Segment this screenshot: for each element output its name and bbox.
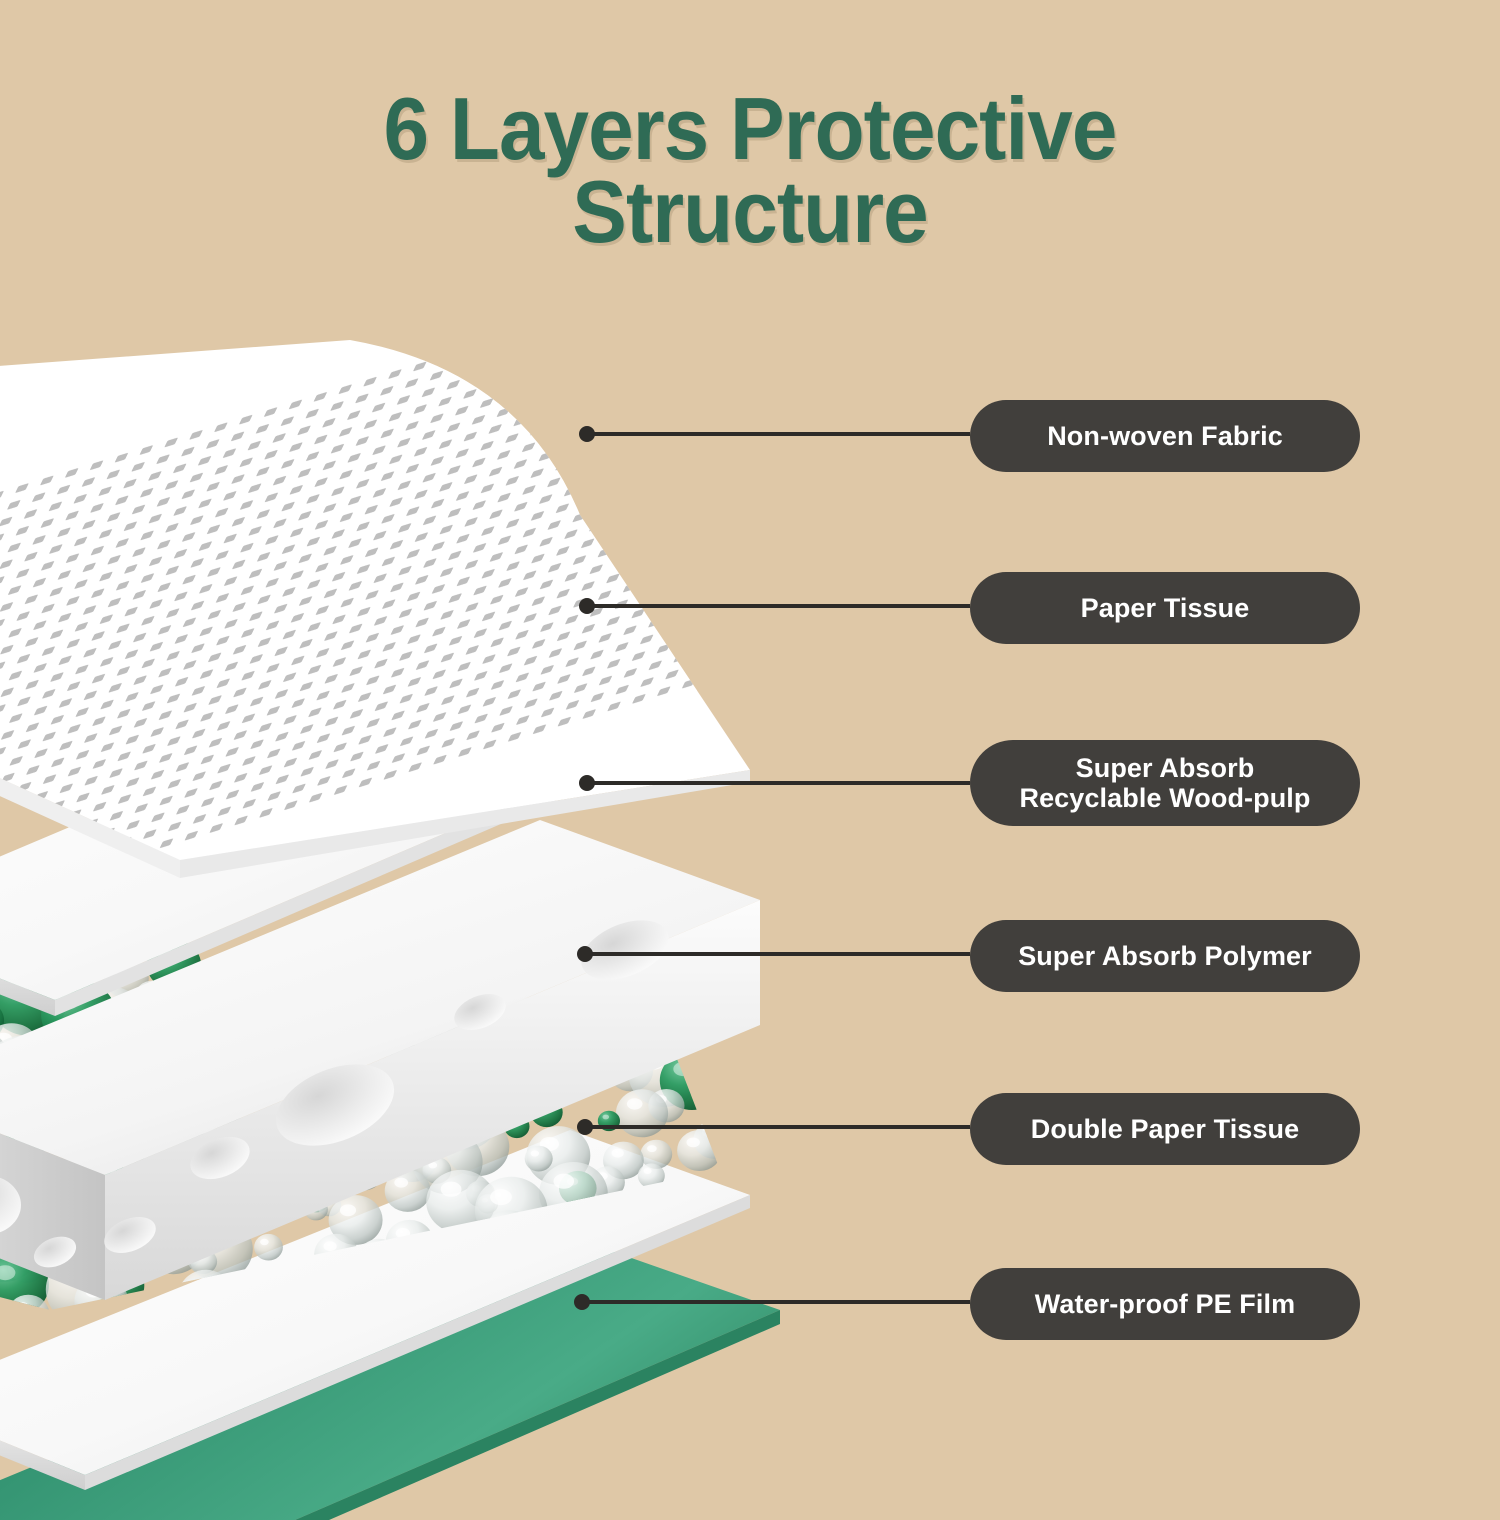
connector-dot-icon xyxy=(574,1294,590,1310)
connector-dot-icon xyxy=(577,1119,593,1135)
connector-dot-icon xyxy=(579,775,595,791)
label-super-absorb-polymer[interactable]: Super Absorb Polymer xyxy=(970,920,1360,992)
connector-line-super-absorb-polymer xyxy=(583,952,970,956)
label-wood-pulp[interactable]: Super Absorb Recyclable Wood-pulp xyxy=(970,740,1360,826)
label-paper-tissue[interactable]: Paper Tissue xyxy=(970,572,1360,644)
page-title: 6 Layers Protective Structure xyxy=(53,88,1448,253)
connector-line-paper-tissue xyxy=(585,604,970,608)
connector-line-double-paper-tissue xyxy=(583,1125,970,1129)
connector-line-pe-film xyxy=(580,1300,970,1304)
connector-dot-icon xyxy=(579,426,595,442)
connector-line-wood-pulp xyxy=(585,781,970,785)
label-pe-film[interactable]: Water-proof PE Film xyxy=(970,1268,1360,1340)
infographic-canvas: 6 Layers Protective Structure xyxy=(0,0,1500,1500)
label-non-woven-fabric[interactable]: Non-woven Fabric xyxy=(970,400,1360,472)
connector-dot-icon xyxy=(577,946,593,962)
connector-line-non-woven-fabric xyxy=(585,432,970,436)
label-double-paper-tissue[interactable]: Double Paper Tissue xyxy=(970,1093,1360,1165)
connector-dot-icon xyxy=(579,598,595,614)
layer-stack-illustration xyxy=(0,300,900,1520)
